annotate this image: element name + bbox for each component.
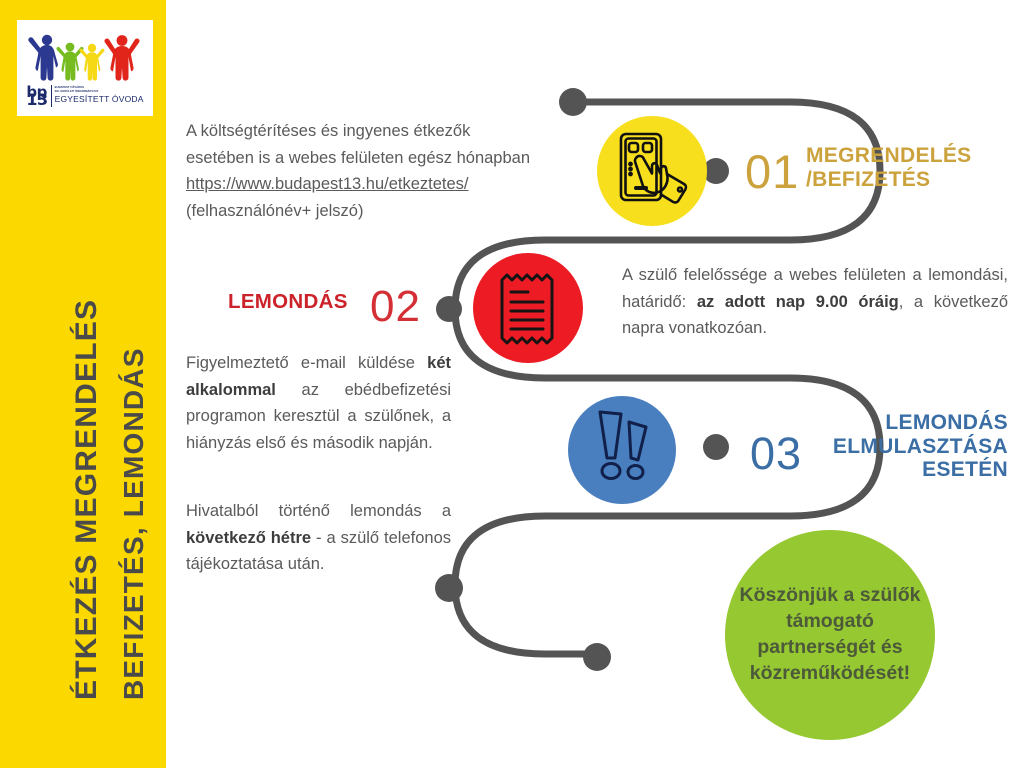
step-03-number: 03 — [750, 428, 802, 480]
sidebar: bp 13 BUDAPEST FŐVÁROS XIII. KERÜLETI ÖN… — [0, 0, 166, 768]
smartphone-hand-card-icon — [613, 130, 691, 212]
step-01-credentials-note: (felhasználónév+ jelszó) — [186, 202, 363, 220]
step-01-label-line-2: /BEFIZETÉS — [806, 168, 972, 192]
organization-logo: bp 13 BUDAPEST FŐVÁROS XIII. KERÜLETI ÖN… — [17, 20, 153, 116]
infographic-canvas: bp 13 BUDAPEST FŐVÁROS XIII. KERÜLETI ÖN… — [0, 0, 1024, 768]
vertical-title-line-2: BEFIZETÉS, LEMONDÁS — [118, 347, 150, 700]
logo-bp-number: 13 — [26, 96, 47, 104]
logo-divider — [51, 85, 52, 107]
logo-wordmark: bp 13 BUDAPEST FŐVÁROS XIII. KERÜLETI ÖN… — [26, 85, 143, 107]
step-01-link[interactable]: https://www.budapest13.hu/etkeztetes/ — [186, 175, 469, 193]
path-node-03 — [703, 434, 729, 460]
step-02-left-a-pre: Figyelmeztető e-mail küldése — [186, 354, 427, 372]
step-01-number: 01 — [745, 144, 799, 199]
step-01-paragraph: A költségtérítéses és ingyenes étkezők e… — [186, 118, 536, 225]
logo-line-3: EGYESÍTETT ÓVODA — [55, 95, 144, 104]
path-node-end — [583, 643, 611, 671]
step-02-left-b-bold: következő hétre — [186, 529, 311, 547]
double-exclamation-icon — [588, 408, 660, 484]
logo-bp-mark: bp 13 — [26, 88, 47, 104]
step-03-label-line-3: ESETÉN — [816, 458, 1008, 482]
step-02-left-paragraph-a: Figyelmeztető e-mail küldése két alkalom… — [186, 350, 451, 457]
step-03-label: LEMONDÁS ELMULASZTÁSA ESETÉN — [816, 411, 1008, 482]
step-01-label: MEGRENDELÉS /BEFIZETÉS — [806, 144, 972, 191]
receipt-icon — [494, 270, 564, 348]
step-01-intro-text: A költségtérítéses és ingyenes étkezők e… — [186, 122, 530, 167]
vertical-title-line-1: ÉTKEZÉS MEGRENDELÉS — [70, 299, 104, 700]
step-03-label-line-2: ELMULASZTÁSA — [816, 435, 1008, 459]
step-02-left-paragraph-b: Hivatalból történő lemondás a következő … — [186, 498, 451, 578]
step-01-label-line-1: MEGRENDELÉS — [806, 144, 972, 168]
path-node-02 — [436, 296, 462, 322]
children-figures-icon — [25, 31, 145, 83]
logo-line-2: XIII. KERÜLETI ÖNKORMÁNYZAT — [55, 91, 99, 94]
step-02-left-b-pre: Hivatalból történő lemondás a — [186, 502, 451, 520]
path-node-04 — [435, 574, 463, 602]
step-03-label-line-1: LEMONDÁS — [816, 411, 1008, 435]
logo-text-lines: BUDAPEST FŐVÁROS XIII. KERÜLETI ÖNKORMÁN… — [55, 87, 144, 103]
step-02-right-paragraph: A szülő felelőssége a webes felületen a … — [622, 262, 1008, 342]
step-02-number: 02 — [370, 282, 421, 332]
path-node-start — [559, 88, 587, 116]
step-02-label: LEMONDÁS — [228, 291, 348, 314]
closing-message: Köszönjük a szülők támogató partnerségét… — [725, 530, 935, 740]
step-02-right-bold: az adott nap 9.00 óráig — [697, 293, 899, 311]
